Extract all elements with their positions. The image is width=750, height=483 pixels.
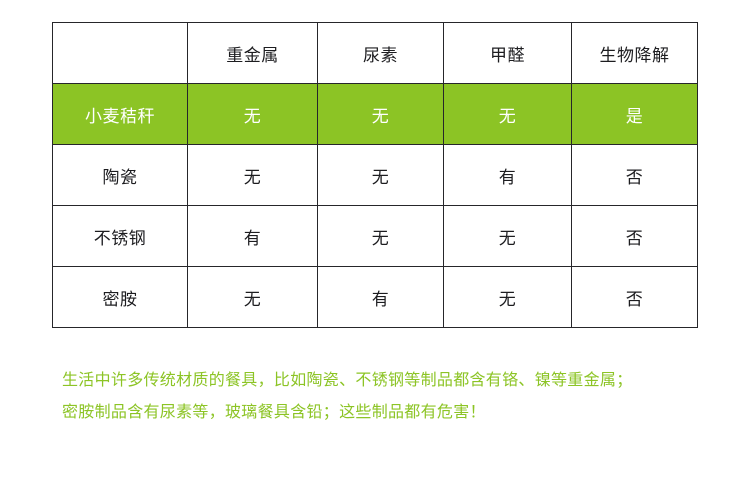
cell-stainless-steel-biodegradable: 否: [572, 206, 698, 267]
table-row-melamine: 密胺 无 有 无 否: [53, 267, 698, 328]
cell-melamine-heavy-metal: 无: [188, 267, 318, 328]
cell-ceramic-heavy-metal: 无: [188, 145, 318, 206]
row-label-stainless-steel: 不锈钢: [53, 206, 188, 267]
infographic-page: 重金属 尿素 甲醛 生物降解 小麦秸秆 无 无 无 是 陶瓷 无 无: [0, 0, 750, 483]
cell-stainless-steel-formaldehyde: 无: [444, 206, 572, 267]
caption-line-1: 生活中许多传统材质的餐具，比如陶瓷、不锈钢等制品都含有铬、镍等重金属；: [62, 365, 722, 397]
cell-ceramic-formaldehyde: 有: [444, 145, 572, 206]
cell-ceramic-biodegradable: 否: [572, 145, 698, 206]
column-header-heavy-metal: 重金属: [188, 23, 318, 84]
table-header: 重金属 尿素 甲醛 生物降解: [53, 23, 698, 84]
cell-wheat-straw-formaldehyde: 无: [444, 84, 572, 145]
caption-line-2: 密胺制品含有尿素等，玻璃餐具含铅；这些制品都有危害！: [62, 397, 722, 429]
table-body: 小麦秸秆 无 无 无 是 陶瓷 无 无 有 否 不锈钢 有 无: [53, 84, 698, 328]
table-row-wheat-straw: 小麦秸秆 无 无 无 是: [53, 84, 698, 145]
cell-stainless-steel-heavy-metal: 有: [188, 206, 318, 267]
column-header-urea: 尿素: [318, 23, 444, 84]
cell-melamine-biodegradable: 否: [572, 267, 698, 328]
cell-wheat-straw-biodegradable: 是: [572, 84, 698, 145]
row-label-melamine: 密胺: [53, 267, 188, 328]
column-header-biodegradable: 生物降解: [572, 23, 698, 84]
cell-wheat-straw-heavy-metal: 无: [188, 84, 318, 145]
cell-melamine-formaldehyde: 无: [444, 267, 572, 328]
table-row-ceramic: 陶瓷 无 无 有 否: [53, 145, 698, 206]
table-header-row: 重金属 尿素 甲醛 生物降解: [53, 23, 698, 84]
row-label-wheat-straw: 小麦秸秆: [53, 84, 188, 145]
table-corner-cell: [53, 23, 188, 84]
cell-wheat-straw-urea: 无: [318, 84, 444, 145]
row-label-ceramic: 陶瓷: [53, 145, 188, 206]
material-comparison-table-wrapper: 重金属 尿素 甲醛 生物降解 小麦秸秆 无 无 无 是 陶瓷 无 无: [52, 22, 697, 328]
caption-block: 生活中许多传统材质的餐具，比如陶瓷、不锈钢等制品都含有铬、镍等重金属； 密胺制品…: [62, 365, 722, 429]
cell-ceramic-urea: 无: [318, 145, 444, 206]
table-row-stainless-steel: 不锈钢 有 无 无 否: [53, 206, 698, 267]
material-comparison-table: 重金属 尿素 甲醛 生物降解 小麦秸秆 无 无 无 是 陶瓷 无 无: [52, 22, 698, 328]
column-header-formaldehyde: 甲醛: [444, 23, 572, 84]
cell-stainless-steel-urea: 无: [318, 206, 444, 267]
cell-melamine-urea: 有: [318, 267, 444, 328]
